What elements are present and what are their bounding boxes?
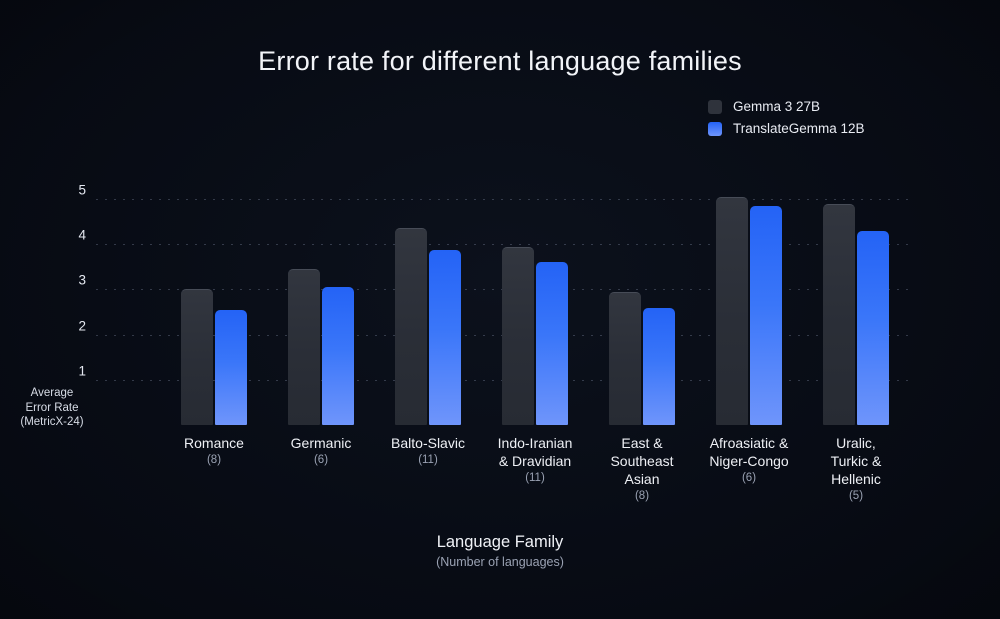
- y-tick-label-2: 2: [58, 318, 86, 333]
- bar-translategemma-12b-1[interactable]: [322, 287, 354, 425]
- legend-item-translategemma-12b: TranslateGemma 12B: [708, 121, 865, 136]
- bar-group-1: [288, 269, 354, 425]
- y-tick-label-3: 3: [58, 273, 86, 288]
- y-axis-title-line: Error Rate: [6, 401, 98, 416]
- bar-translategemma-12b-5[interactable]: [750, 206, 782, 425]
- legend-swatch-gray: [708, 100, 722, 114]
- x-tick-label-1: Germanic(6): [261, 434, 381, 469]
- bar-translategemma-12b-0[interactable]: [215, 310, 247, 425]
- bar-translategemma-12b-4[interactable]: [643, 308, 675, 425]
- x-axis-subtitle: (Number of languages): [0, 555, 1000, 569]
- bar-gemma-3-27b-1[interactable]: [288, 269, 320, 425]
- y-axis-title: AverageError Rate(MetricX-24): [6, 386, 98, 430]
- y-tick-label-1: 1: [58, 363, 86, 378]
- bar-group-3: [502, 247, 568, 425]
- x-tick-count-2: (11): [368, 452, 488, 469]
- bar-translategemma-12b-3[interactable]: [536, 262, 568, 425]
- x-tick-count-5: (6): [689, 470, 809, 487]
- y-axis-title-line: Average: [6, 386, 98, 401]
- x-axis-title: Language Family: [0, 533, 1000, 552]
- x-tick-label-6: Uralic,Turkic &Hellenic(5): [796, 434, 916, 505]
- bar-gemma-3-27b-2[interactable]: [395, 228, 427, 425]
- x-tick-label-5: Afroasiatic &Niger-Congo(6): [689, 434, 809, 487]
- bar-group-5: [716, 197, 782, 425]
- x-axis-tick-labels: Romance(8)Germanic(6)Balto-Slavic(11)Ind…: [96, 434, 914, 514]
- chart-title: Error rate for different language famili…: [0, 46, 1000, 77]
- bar-gemma-3-27b-6[interactable]: [823, 204, 855, 425]
- x-tick-count-4: (8): [582, 488, 702, 505]
- x-tick-count-3: (11): [475, 470, 595, 487]
- bar-group-0: [181, 289, 247, 425]
- bar-group-6: [823, 204, 889, 425]
- x-tick-count-1: (6): [261, 452, 381, 469]
- legend-label-translategemma-12b: TranslateGemma 12B: [733, 121, 865, 136]
- gridline-5: [96, 199, 914, 200]
- bar-gemma-3-27b-4[interactable]: [609, 292, 641, 425]
- x-tick-label-2: Balto-Slavic(11): [368, 434, 488, 469]
- chart-legend: Gemma 3 27B TranslateGemma 12B: [708, 99, 865, 136]
- bar-translategemma-12b-2[interactable]: [429, 250, 461, 425]
- bar-gemma-3-27b-0[interactable]: [181, 289, 213, 425]
- bar-group-4: [609, 292, 675, 425]
- y-tick-label-4: 4: [58, 228, 86, 243]
- legend-label-gemma-3-27b: Gemma 3 27B: [733, 99, 820, 114]
- bar-gemma-3-27b-5[interactable]: [716, 197, 748, 425]
- x-tick-label-4: East &SoutheastAsian(8): [582, 434, 702, 505]
- legend-swatch-blue: [708, 122, 722, 136]
- plot-area: 12345: [96, 181, 914, 425]
- x-tick-label-0: Romance(8): [154, 434, 274, 469]
- bar-gemma-3-27b-3[interactable]: [502, 247, 534, 425]
- x-tick-count-0: (8): [154, 452, 274, 469]
- bar-translategemma-12b-6[interactable]: [857, 231, 889, 425]
- y-axis-title-line: (MetricX-24): [6, 415, 98, 430]
- x-tick-count-6: (5): [796, 488, 916, 505]
- gridline-4: [96, 244, 914, 245]
- chart-canvas: Error rate for different language famili…: [0, 0, 1000, 619]
- y-tick-label-5: 5: [58, 183, 86, 198]
- bar-group-2: [395, 228, 461, 425]
- x-tick-label-3: Indo-Iranian& Dravidian(11): [475, 434, 595, 487]
- legend-item-gemma-3-27b: Gemma 3 27B: [708, 99, 865, 114]
